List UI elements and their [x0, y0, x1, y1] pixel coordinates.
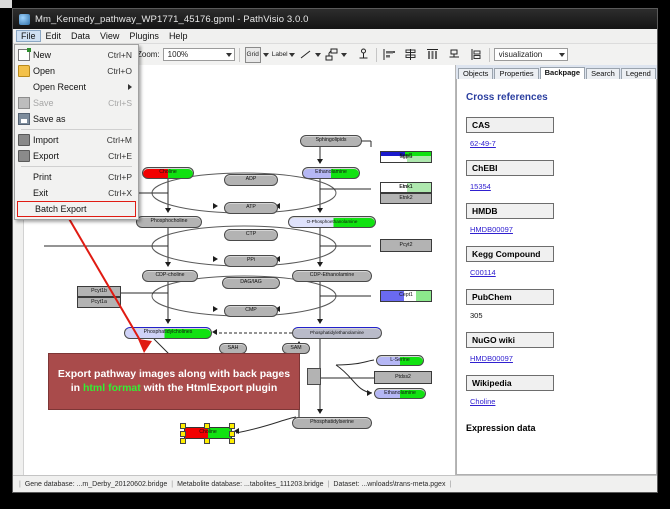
xref-header-nugo-wiki: NuGO wiki	[466, 332, 554, 348]
line-options-caret-icon[interactable]	[315, 53, 321, 57]
tab-legend[interactable]: Legend	[621, 68, 656, 79]
xref-header-cas: CAS	[466, 117, 554, 133]
menu-bar: File Edit Data View Plugins Help	[13, 29, 657, 44]
xref-link-cas[interactable]: 62-49-7	[470, 139, 496, 148]
label-options-caret-icon[interactable]	[289, 53, 295, 57]
save-icon	[15, 97, 33, 109]
menu-item-open[interactable]: Open Ctrl+O	[15, 63, 138, 79]
side-panel-tabs: Objects Properties Backpage Search Legen…	[456, 65, 657, 79]
zoom-label: Zoom:	[137, 50, 160, 59]
status-divider: |	[171, 481, 173, 488]
visualization-value: visualization	[499, 50, 543, 59]
menu-data[interactable]: Data	[66, 30, 95, 42]
status-divider: |	[449, 481, 451, 488]
menu-item-exit[interactable]: Exit Ctrl+X	[15, 185, 138, 201]
menu-item-open-recent[interactable]: Open Recent	[15, 79, 138, 95]
frame-border-top	[12, 0, 670, 8]
status-bar: | Gene database: ...m_Derby_20120602.bri…	[13, 475, 657, 492]
shape-tool-button[interactable]	[325, 48, 339, 62]
menu-view[interactable]: View	[95, 30, 124, 42]
xref-header-kegg-compound: Kegg Compound	[466, 246, 554, 262]
visualization-combobox[interactable]: visualization	[494, 48, 568, 61]
shape-options-caret-icon[interactable]	[341, 53, 347, 57]
callout-highlight: html format	[83, 382, 141, 394]
menu-divider	[21, 166, 132, 167]
tab-properties[interactable]: Properties	[494, 68, 538, 79]
xref-link-hmdb[interactable]: HMDB00097	[470, 225, 513, 234]
menu-edit[interactable]: Edit	[41, 30, 67, 42]
status-gene-database: Gene database: ...m_Derby_20120602.bridg…	[25, 481, 167, 488]
file-dropdown-menu[interactable]: New Ctrl+N Open Ctrl+O Open Recent Save …	[14, 44, 139, 220]
export-icon	[15, 150, 33, 162]
import-icon	[15, 134, 33, 146]
group-button[interactable]	[448, 48, 462, 62]
align-center-button[interactable]	[404, 48, 418, 62]
toolbar-divider	[239, 48, 240, 62]
status-dataset: Dataset: ...wnloads\trans-meta.pgex	[333, 481, 445, 488]
menu-item-import[interactable]: Import Ctrl+M	[15, 132, 138, 148]
anchor-tool-button[interactable]	[357, 48, 371, 62]
open-folder-icon	[15, 65, 33, 77]
xref-link-nugo-wiki[interactable]: HMDB00097	[470, 354, 513, 363]
distribute-button[interactable]	[426, 48, 440, 62]
cross-references-title: Cross references	[466, 92, 647, 103]
tab-objects[interactable]: Objects	[458, 68, 493, 79]
toolbar-divider-3	[489, 48, 490, 62]
side-panel: Objects Properties Backpage Search Legen…	[456, 65, 657, 475]
menu-item-print[interactable]: Print Ctrl+P	[15, 169, 138, 185]
window-title: Mm_Kennedy_pathway_WP1771_45176.gpml - P…	[35, 14, 309, 25]
xref-link-wikipedia[interactable]: Choline	[470, 397, 495, 406]
align-left-button[interactable]	[382, 48, 396, 62]
tab-backpage[interactable]: Backpage	[540, 67, 585, 79]
grid-toggle-button[interactable]: Grid	[245, 47, 261, 63]
status-divider: |	[19, 481, 21, 488]
xref-header-chebi: ChEBI	[466, 160, 554, 176]
status-divider: |	[328, 481, 330, 488]
zoom-combobox[interactable]: 100%	[163, 48, 235, 61]
stack-button[interactable]	[470, 48, 484, 62]
xref-header-pubchem: PubChem	[466, 289, 554, 305]
xref-link-kegg-compound[interactable]: C00114	[470, 268, 496, 277]
menu-plugins[interactable]: Plugins	[124, 30, 164, 42]
menu-item-new[interactable]: New Ctrl+N	[15, 47, 138, 63]
application-window: Mm_Kennedy_pathway_WP1771_45176.gpml - P…	[12, 8, 658, 493]
menu-help[interactable]: Help	[164, 30, 193, 42]
callout-annotation: Export pathway images along with back pa…	[48, 353, 300, 410]
line-tool-button[interactable]	[299, 48, 313, 62]
zoom-value: 100%	[168, 50, 188, 59]
toolbar-divider-2	[376, 48, 377, 62]
menu-item-export[interactable]: Export Ctrl+E	[15, 148, 138, 164]
xref-header-wikipedia: Wikipedia	[466, 375, 554, 391]
label-tool-button[interactable]: Label	[273, 48, 287, 62]
menu-item-save-as[interactable]: Save as	[15, 111, 138, 127]
backpage-content: Cross references CAS 62-49-7 ChEBI 15354…	[456, 79, 657, 475]
save-as-icon	[15, 113, 33, 125]
menu-item-batch-export[interactable]: Batch Export	[17, 201, 136, 217]
xref-header-hmdb: HMDB	[466, 203, 554, 219]
tab-search[interactable]: Search	[586, 68, 620, 79]
expression-data-title: Expression data	[466, 423, 647, 433]
menu-divider	[21, 129, 132, 130]
submenu-arrow-icon	[128, 84, 132, 90]
status-metabolite-database: Metabolite database: ...tabolites_111203…	[177, 481, 323, 488]
menu-file[interactable]: File	[16, 30, 41, 42]
grid-options-caret-icon[interactable]	[263, 53, 269, 57]
xref-link-chebi[interactable]: 15354	[470, 182, 491, 191]
chevron-down-icon	[226, 53, 232, 57]
title-bar: Mm_Kennedy_pathway_WP1771_45176.gpml - P…	[13, 9, 657, 29]
screenshot-frame: Mm_Kennedy_pathway_WP1771_45176.gpml - P…	[0, 0, 670, 509]
pathvisio-icon	[19, 14, 30, 25]
callout-text-after: with the HtmlExport plugin	[141, 382, 278, 394]
chevron-down-icon	[559, 53, 565, 57]
menu-item-save[interactable]: Save Ctrl+S	[15, 95, 138, 111]
xref-value-pubchem: 305	[470, 311, 483, 320]
new-document-icon	[15, 49, 33, 61]
